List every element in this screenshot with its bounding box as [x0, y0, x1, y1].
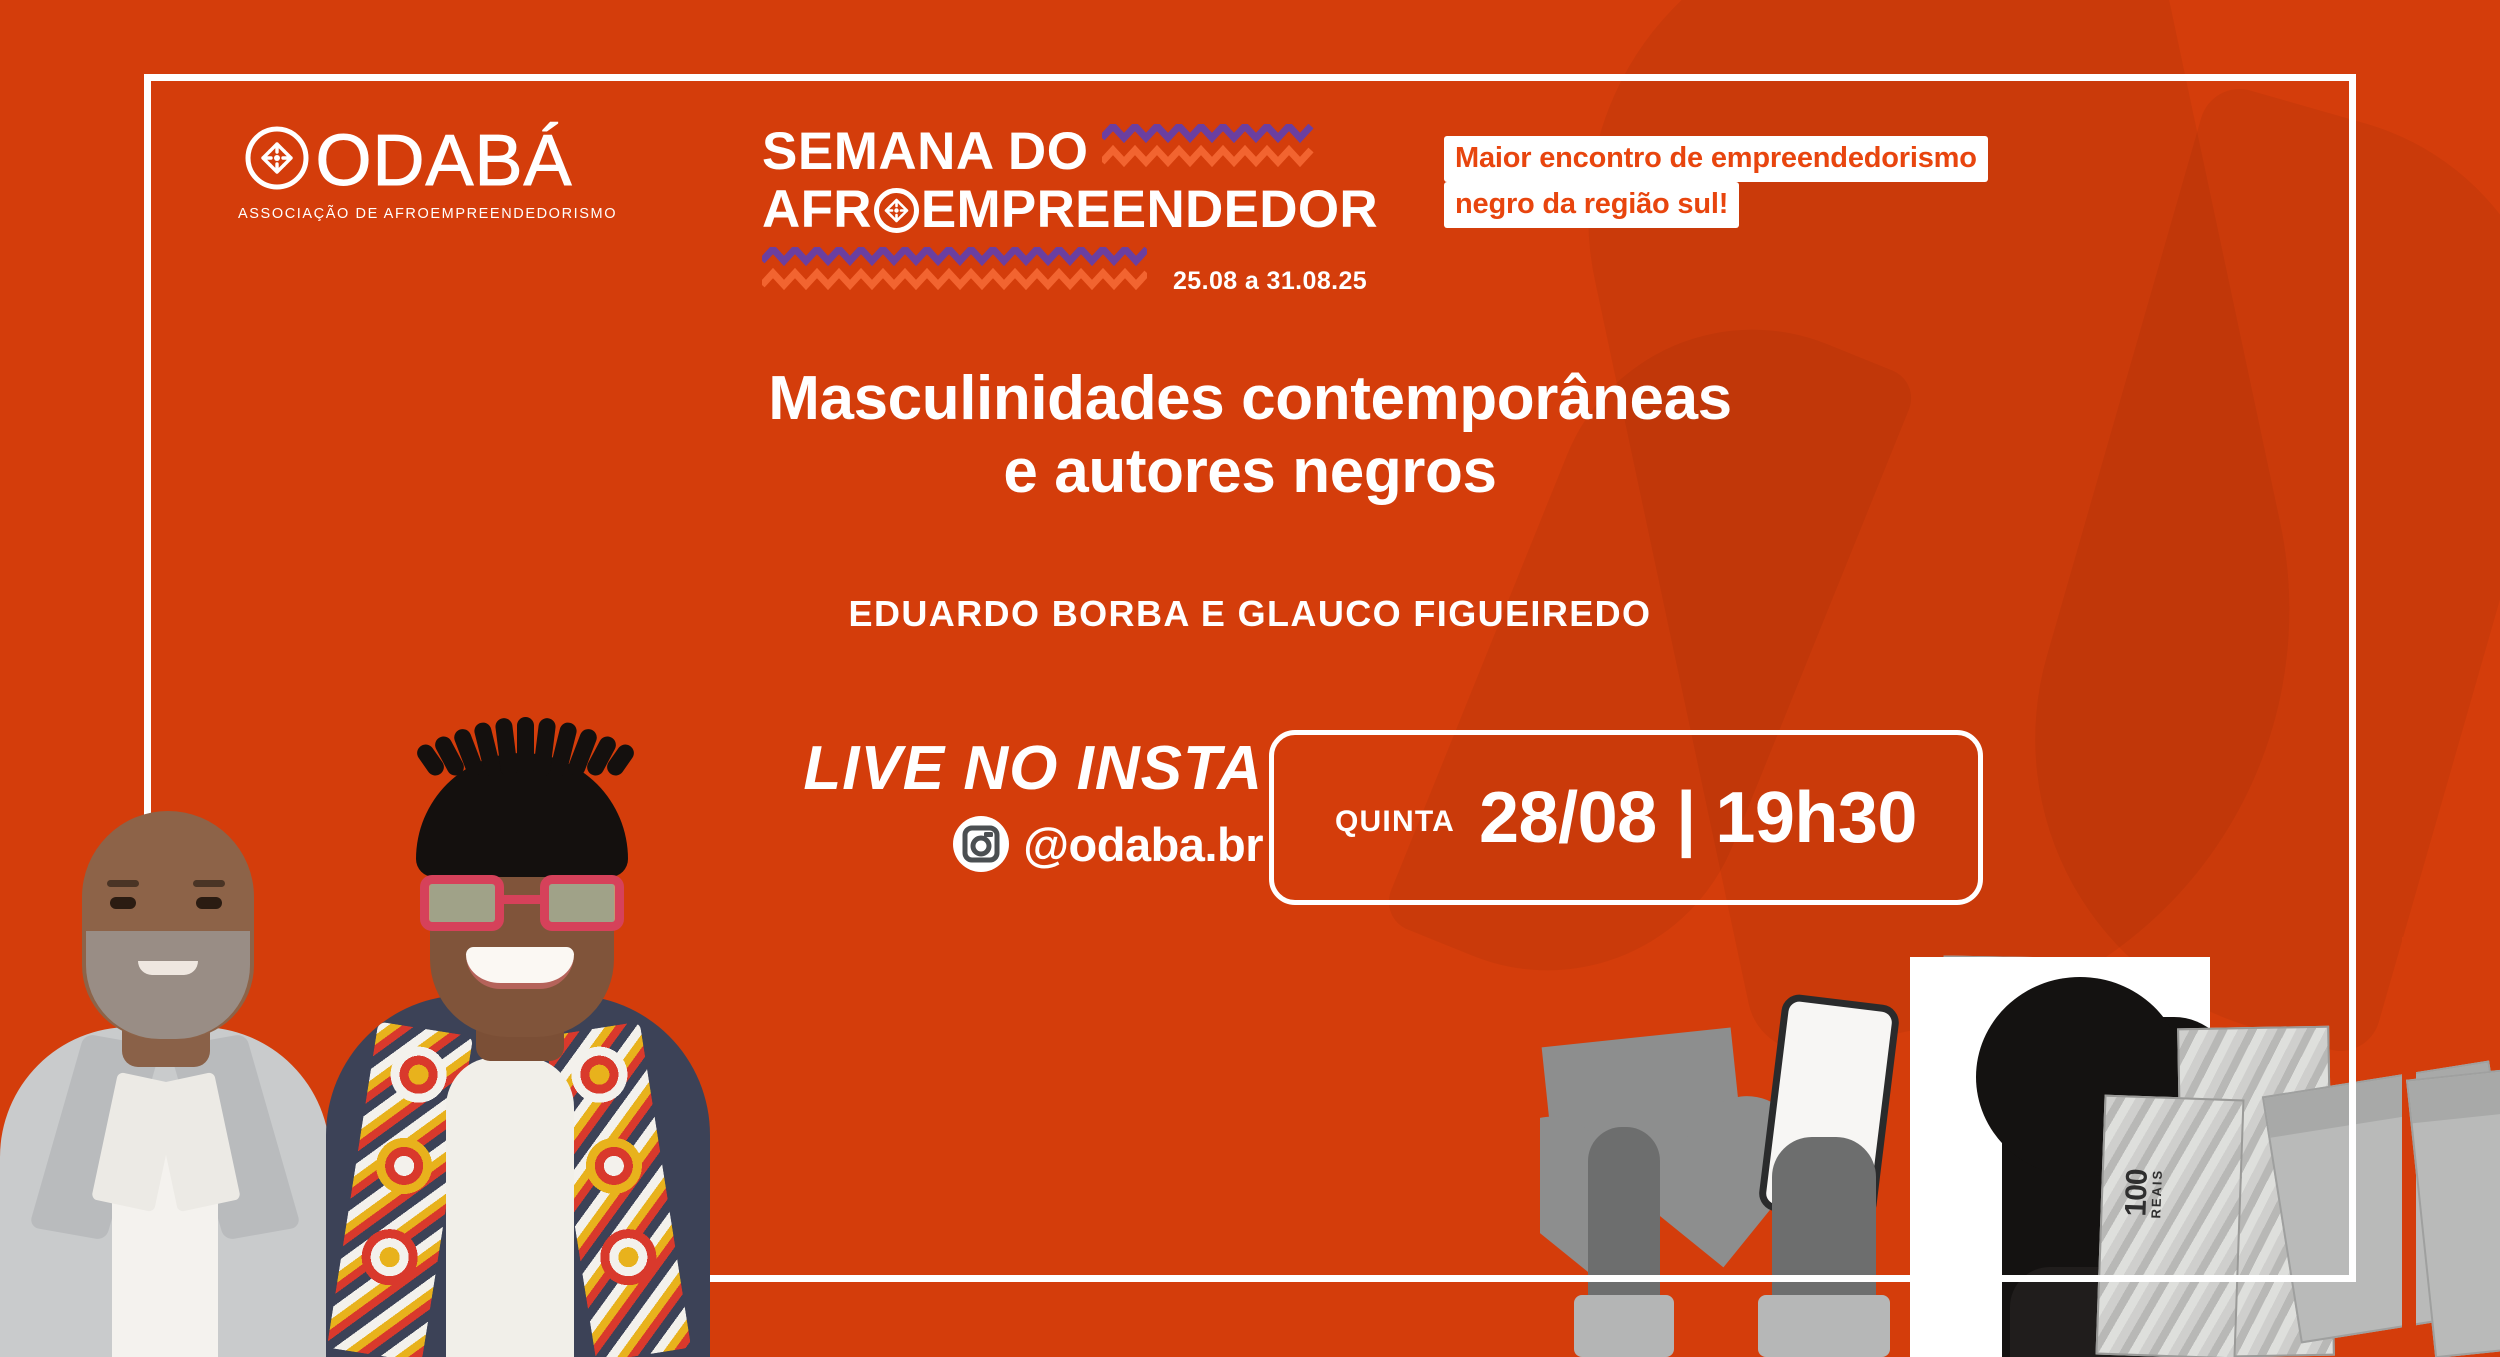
adinkra-o-icon	[873, 187, 920, 234]
odaba-tagline: ASSOCIAÇÃO DE AFROEMPREENDEDORISMO	[238, 206, 578, 222]
speaker-portrait-right	[308, 667, 728, 1357]
photo-collage: 100REAIS 100REAIS 100REAIS	[1540, 937, 2500, 1357]
zigzag-pattern-icon	[1102, 124, 1314, 175]
hair-loc	[517, 717, 534, 777]
odaba-wordmark: ODABÁ	[315, 125, 572, 197]
badge-line2: negro da região sul!	[1444, 182, 1739, 228]
hand-holding-heart-icon	[1588, 1127, 1660, 1357]
hand-holding-phone-icon	[1772, 1137, 1876, 1357]
event-datetime: 28/08 | 19h30	[1479, 777, 1917, 859]
highlight-badge: Maior encontro de empreendedorismo negro…	[1444, 136, 1988, 228]
speakers-photo	[0, 667, 820, 1357]
live-block: LIVE NO INSTA @odaba.br	[733, 738, 1263, 872]
event-week-title: SEMANA DO AFR	[762, 125, 1422, 298]
live-title: LIVE NO INSTA	[733, 738, 1263, 800]
week-title-line2-before: AFR	[762, 183, 872, 237]
eyeglasses-icon	[420, 875, 624, 933]
speaker-portrait-left	[0, 697, 330, 1357]
zigzag-pattern-icon	[762, 247, 1147, 298]
headline-line1: Masculinidades contemporâneas	[144, 362, 2356, 435]
week-title-line1: SEMANA DO	[762, 125, 1088, 179]
event-dates: 25.08 a 31.08.25	[1173, 267, 1367, 296]
banknote-100-reais: 100REAIS	[2096, 1095, 2245, 1357]
badge-line1: Maior encontro de empreendedorismo	[1444, 136, 1988, 182]
speaker-names: EDUARDO BORBA E GLAUCO FIGUEIREDO	[144, 593, 2356, 635]
headline-line2: e autores negros	[144, 435, 2356, 508]
banknote-label: REAIS	[2150, 1169, 2164, 1219]
week-title-line2-after: EMPREENDEDOR	[921, 183, 1378, 237]
odaba-logo: ODABÁ ASSOCIAÇÃO DE AFROEMPREENDEDORISMO	[238, 124, 578, 222]
event-weekday: QUINTA	[1335, 797, 1455, 839]
event-poster: 100REAIS 100REAIS 100REAIS	[0, 0, 2500, 1357]
background-watermark-shape	[1964, 80, 2500, 1061]
week-title-line2: AFR EMPREENDEDOR	[762, 183, 1422, 237]
event-date-badge: QUINTA 28/08 | 19h30	[1269, 730, 1983, 905]
adinkra-circle-icon	[243, 124, 311, 197]
page-title: Masculinidades contemporâneas e autores …	[144, 362, 2356, 508]
instagram-handle[interactable]: @odaba.br	[1023, 821, 1263, 868]
instagram-icon[interactable]	[953, 816, 1009, 872]
